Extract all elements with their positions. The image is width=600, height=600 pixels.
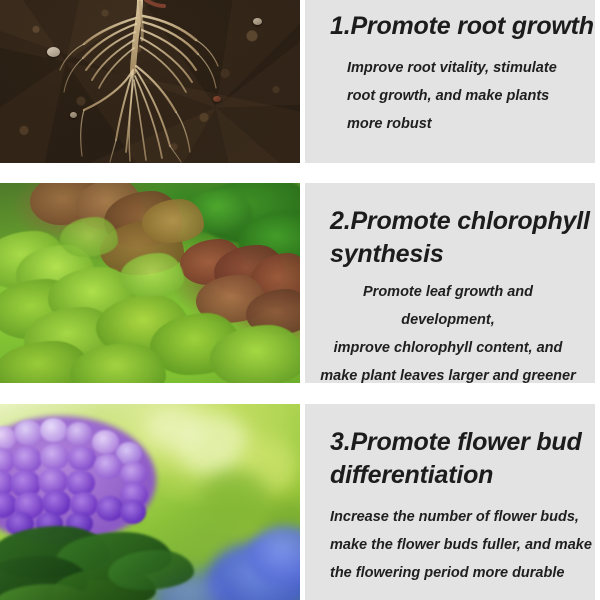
purple-hydrangea-bloom-photo [0, 404, 300, 600]
hydrangea-floret [68, 446, 96, 471]
feature-copy-3: 3.Promote flower bud differentiation Inc… [305, 404, 595, 600]
feature-copy-2: 2.Promote chlorophyll synthesis Promote … [305, 183, 595, 383]
feature-body-3: Increase the number of flower buds, make… [305, 492, 595, 588]
feature-row-1: 1.Promote root growth Improve root vital… [0, 0, 600, 163]
plant-roots-in-soil-photo [0, 0, 300, 163]
hydrangea-floret [40, 444, 69, 470]
feature-body-2: Promote leaf growth and development, imp… [305, 271, 595, 383]
hydrangea-floret [14, 420, 42, 445]
hydrangea-floret [120, 500, 146, 524]
root-system-illustration [0, 0, 300, 163]
leaf-shape [60, 217, 118, 257]
bokeh-highlight [146, 406, 202, 450]
hydrangea-floret [12, 446, 42, 473]
bokeh-highlight [200, 470, 270, 526]
feature-title-3: 3.Promote flower bud differentiation [305, 404, 595, 492]
hydrangea-floret [92, 430, 119, 454]
feature-title-1: 1.Promote root growth [305, 0, 595, 43]
hydrangea-floret [40, 418, 67, 442]
feature-row-2: 2.Promote chlorophyll synthesis Promote … [0, 183, 600, 383]
feature-row-3: 3.Promote flower bud differentiation Inc… [0, 404, 600, 600]
hydrangea-floret [66, 422, 92, 445]
feature-body-1: Improve root vitality, stimulate root gr… [305, 43, 595, 139]
feature-copy-1: 1.Promote root growth Improve root vital… [305, 0, 595, 163]
lettuce-garden-bed-photo [0, 183, 300, 383]
feature-title-2: 2.Promote chlorophyll synthesis [305, 183, 595, 271]
infographic-board: 1.Promote root growth Improve root vital… [0, 0, 600, 600]
